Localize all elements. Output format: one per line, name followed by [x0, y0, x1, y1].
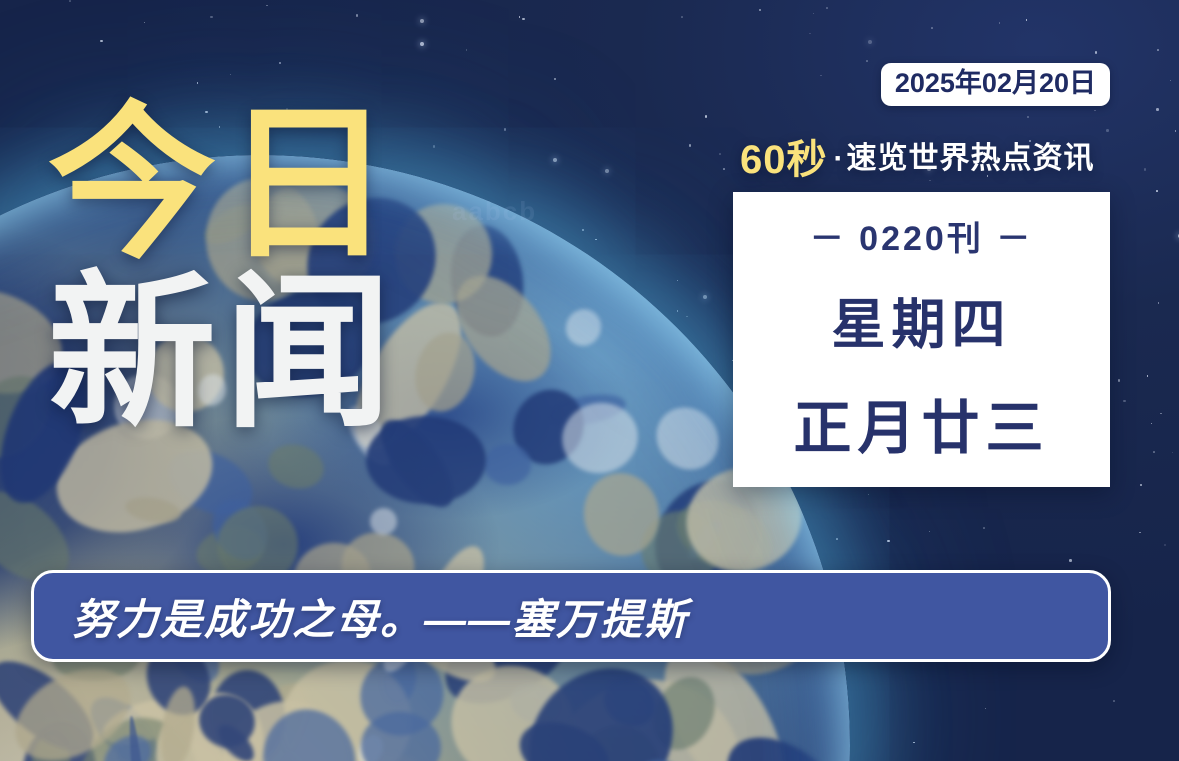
weekday-label: 星期四 [832, 280, 1012, 359]
headline-line-2: 新闻 [48, 273, 400, 434]
tagline-highlight: 60秒 [740, 138, 828, 182]
quote-bar: 努力是成功之母。——塞万提斯 [31, 570, 1111, 662]
tagline-separator: · [834, 142, 844, 175]
quote-text: 努力是成功之母。——塞万提斯 [72, 586, 688, 647]
tagline-block: 60秒·速览世界热点资讯 [740, 140, 1112, 180]
tagline-rest: 速览世界热点资讯 [847, 142, 1095, 175]
date-badge: 2025年02月20日 [881, 63, 1110, 106]
headline-line-1: 今日 [48, 104, 400, 265]
issue-info-card: － 0220刊 － 星期四 正月廿三 [733, 192, 1110, 487]
issue-number-label: － 0220刊 － [810, 211, 1034, 260]
poster-canvas: aabcb 今日 新闻 2025年02月20日 60秒·速览世界热点资讯 － 0… [0, 0, 1179, 761]
watermark-text: aabcb [452, 196, 537, 227]
lunar-date-label: 正月廿三 [793, 381, 1049, 465]
headline-block: 今日 新闻 [48, 104, 400, 435]
